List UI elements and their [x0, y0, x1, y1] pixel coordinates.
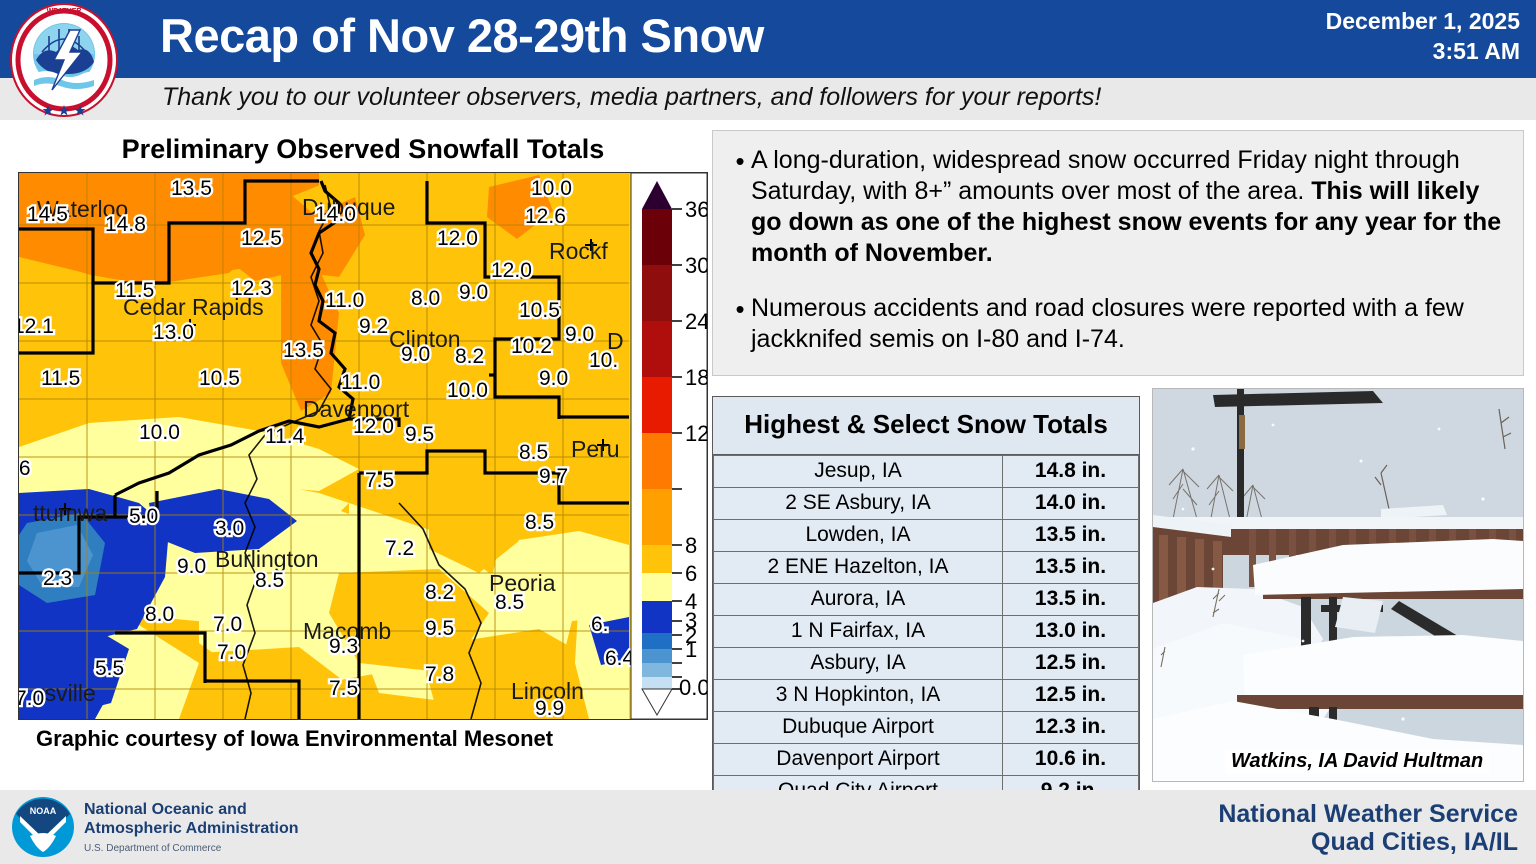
bullet-item: • Numerous accidents and road closures w… [729, 293, 1507, 355]
city-label: ttumwa [33, 500, 107, 526]
svg-text:11.5: 11.5 [41, 367, 80, 390]
svg-text:11.0: 11.0 [325, 289, 364, 312]
snow-totals-grid: Jesup, IA14.8 in.2 SE Asbury, IA14.0 in.… [713, 455, 1139, 808]
svg-text:12.1: 12.1 [19, 315, 54, 338]
nws-office-line-2: Quad Cities, IA/IL [1218, 828, 1518, 856]
svg-text:12.3: 12.3 [231, 277, 272, 300]
bullet-dot-icon: • [729, 145, 751, 269]
city-label: Peru [571, 436, 620, 462]
header-timestamp: December 1, 2025 3:51 AM [1326, 6, 1520, 66]
svg-text:6.: 6. [591, 613, 609, 636]
svg-text:12.6: 12.6 [525, 205, 566, 228]
snowfall-map-svg: Waterloo Dubuque Rockf Cedar Rapids Clin… [19, 173, 707, 719]
svg-text:5.5: 5.5 [95, 657, 124, 680]
table-row: Asbury, IA12.5 in. [714, 648, 1139, 680]
snow-photo: Watkins, IA David Hultman [1152, 388, 1524, 782]
table-cell-amount: 12.5 in. [1003, 648, 1139, 680]
svg-text:12.5: 12.5 [241, 227, 282, 250]
svg-text:14.8: 14.8 [105, 213, 146, 236]
nws-office-name: National Weather Service Quad Cities, IA… [1218, 800, 1518, 856]
svg-text:8.0: 8.0 [145, 603, 174, 626]
bullet-item: • A long-duration, widespread snow occur… [729, 145, 1507, 269]
table-cell-amount: 13.5 in. [1003, 552, 1139, 584]
snow-totals-title: Highest & Select Snow Totals [713, 397, 1139, 455]
table-cell-amount: 13.5 in. [1003, 520, 1139, 552]
noaa-agency-name: National Oceanic and Atmospheric Adminis… [84, 800, 299, 838]
snow-photo-illustration [1153, 389, 1523, 781]
svg-text:11.4: 11.4 [265, 425, 305, 448]
nws-office-line-1: National Weather Service [1218, 800, 1518, 828]
svg-text:10.0: 10.0 [139, 421, 180, 444]
bullet-dot-icon: • [729, 293, 751, 355]
snowfall-recap-graphic: WEATHER Recap of Nov 28-29th Snow Decemb… [0, 0, 1536, 864]
svg-text:12.0: 12.0 [491, 259, 532, 282]
summary-panel: • A long-duration, widespread snow occur… [712, 130, 1524, 376]
svg-text:NOAA: NOAA [30, 806, 57, 816]
table-row: Davenport Airport10.6 in. [714, 744, 1139, 776]
svg-text:7.2: 7.2 [385, 537, 414, 560]
svg-text:10.0: 10.0 [531, 177, 572, 200]
svg-text:.6: .6 [19, 457, 31, 480]
svg-text:9.7: 9.7 [539, 465, 568, 488]
map-credit: Graphic courtesy of Iowa Environmental M… [36, 726, 553, 752]
table-cell-amount: 10.6 in. [1003, 744, 1139, 776]
header-time: 3:51 AM [1326, 36, 1520, 66]
svg-text:13.5: 13.5 [171, 177, 212, 200]
svg-text:5.0: 5.0 [129, 505, 158, 528]
noaa-logo-icon: NOAA [10, 796, 76, 858]
svg-text:3.0: 3.0 [215, 517, 244, 540]
table-cell-amount: 13.0 in. [1003, 616, 1139, 648]
table-row: 1 N Fairfax, IA13.0 in. [714, 616, 1139, 648]
photo-caption: Watkins, IA David Hultman [1225, 749, 1489, 774]
table-cell-amount: 13.5 in. [1003, 584, 1139, 616]
svg-text:9.0: 9.0 [401, 343, 430, 366]
map-colorbar: 36 30 24 18 12 8 6 4 3 2 1 0.01 [631, 173, 707, 719]
svg-text:7.5: 7.5 [365, 469, 394, 492]
national-weather-service-seal-icon: WEATHER [8, 2, 120, 118]
page-title: Recap of Nov 28-29th Snow [160, 8, 764, 63]
svg-text:8: 8 [685, 533, 697, 558]
table-cell-site: Aurora, IA [714, 584, 1003, 616]
svg-text:WEATHER: WEATHER [47, 8, 82, 15]
svg-text:1: 1 [685, 637, 697, 662]
table-cell-site: Lowden, IA [714, 520, 1003, 552]
svg-text:9.0: 9.0 [565, 323, 594, 346]
table-cell-site: 3 N Hopkinton, IA [714, 680, 1003, 712]
svg-text:8.5: 8.5 [519, 441, 548, 464]
svg-text:11.0: 11.0 [341, 371, 380, 394]
svg-text:30: 30 [685, 253, 707, 278]
table-cell-site: 2 SE Asbury, IA [714, 488, 1003, 520]
svg-text:9.3: 9.3 [329, 635, 358, 658]
table-cell-site: Jesup, IA [714, 456, 1003, 488]
table-cell-site: 2 ENE Hazelton, IA [714, 552, 1003, 584]
svg-text:6: 6 [685, 561, 697, 586]
noaa-department: U.S. Department of Commerce [84, 843, 221, 854]
svg-text:8.2: 8.2 [455, 345, 484, 368]
city-label: Rockf [549, 238, 608, 264]
table-row: 2 ENE Hazelton, IA13.5 in. [714, 552, 1139, 584]
svg-text:9.0: 9.0 [539, 367, 568, 390]
svg-text:8.5: 8.5 [525, 511, 554, 534]
table-cell-site: Dubuque Airport [714, 712, 1003, 744]
table-cell-amount: 12.3 in. [1003, 712, 1139, 744]
table-row: Jesup, IA14.8 in. [714, 456, 1139, 488]
svg-text:9.0: 9.0 [459, 281, 488, 304]
svg-text:11.5: 11.5 [115, 279, 154, 302]
svg-text:2.3: 2.3 [43, 567, 72, 590]
map-title: Preliminary Observed Snowfall Totals [18, 134, 708, 165]
svg-text:8.5: 8.5 [255, 569, 284, 592]
svg-text:14.5: 14.5 [27, 203, 68, 226]
svg-text:9.5: 9.5 [405, 423, 434, 446]
table-cell-site: Asbury, IA [714, 648, 1003, 680]
svg-text:12.0: 12.0 [437, 227, 478, 250]
table-cell-site: 1 N Fairfax, IA [714, 616, 1003, 648]
header-date: December 1, 2025 [1326, 6, 1520, 36]
table-row: Aurora, IA13.5 in. [714, 584, 1139, 616]
table-row: Lowden, IA13.5 in. [714, 520, 1139, 552]
svg-text:0.01: 0.01 [679, 675, 707, 700]
svg-text:18: 18 [685, 365, 707, 390]
svg-text:10.5: 10.5 [199, 367, 240, 390]
svg-text:14.0: 14.0 [315, 203, 356, 226]
city-label: rsville [37, 680, 96, 706]
svg-text:7.5: 7.5 [329, 677, 358, 700]
table-cell-amount: 14.0 in. [1003, 488, 1139, 520]
svg-text:12.0: 12.0 [353, 415, 394, 438]
table-row: 3 N Hopkinton, IA12.5 in. [714, 680, 1139, 712]
svg-text:7.0: 7.0 [217, 641, 246, 664]
svg-text:9.0: 9.0 [177, 555, 206, 578]
thank-you-message: Thank you to our volunteer observers, me… [162, 83, 1101, 112]
table-cell-amount: 14.8 in. [1003, 456, 1139, 488]
noaa-line-2: Atmospheric Administration [84, 819, 299, 838]
bullet-spacer [729, 275, 1507, 293]
snow-totals-table: Highest & Select Snow Totals Jesup, IA14… [712, 396, 1140, 809]
svg-text:10.5: 10.5 [519, 299, 560, 322]
snowfall-map: Waterloo Dubuque Rockf Cedar Rapids Clin… [18, 172, 708, 720]
bullet-normal-text: Numerous accidents and road closures wer… [751, 294, 1464, 353]
svg-text:8.2: 8.2 [425, 581, 454, 604]
svg-text:13.5: 13.5 [283, 339, 324, 362]
svg-text:24: 24 [685, 309, 707, 334]
svg-text:7.8: 7.8 [425, 663, 454, 686]
svg-text:6.4: 6.4 [605, 647, 635, 670]
svg-text:9.9: 9.9 [535, 697, 564, 719]
svg-text:13.0: 13.0 [153, 321, 194, 344]
svg-text:8.0: 8.0 [411, 287, 440, 310]
table-row: 2 SE Asbury, IA14.0 in. [714, 488, 1139, 520]
svg-text:12: 12 [685, 421, 707, 446]
table-cell-amount: 12.5 in. [1003, 680, 1139, 712]
svg-text:10.0: 10.0 [447, 379, 488, 402]
svg-text:7.0: 7.0 [213, 613, 242, 636]
svg-text:9.2: 9.2 [359, 315, 388, 338]
svg-text:9.5: 9.5 [425, 617, 454, 640]
svg-text:10.2: 10.2 [511, 335, 552, 358]
svg-text:36: 36 [685, 197, 707, 222]
table-cell-site: Davenport Airport [714, 744, 1003, 776]
svg-text:7.0: 7.0 [19, 687, 44, 710]
noaa-line-1: National Oceanic and [84, 800, 299, 819]
svg-text:8.5: 8.5 [495, 591, 524, 614]
table-row: Dubuque Airport12.3 in. [714, 712, 1139, 744]
bullet-text: Numerous accidents and road closures wer… [751, 293, 1507, 355]
svg-text:10.: 10. [589, 349, 618, 372]
bullet-text: A long-duration, widespread snow occurre… [751, 145, 1507, 269]
